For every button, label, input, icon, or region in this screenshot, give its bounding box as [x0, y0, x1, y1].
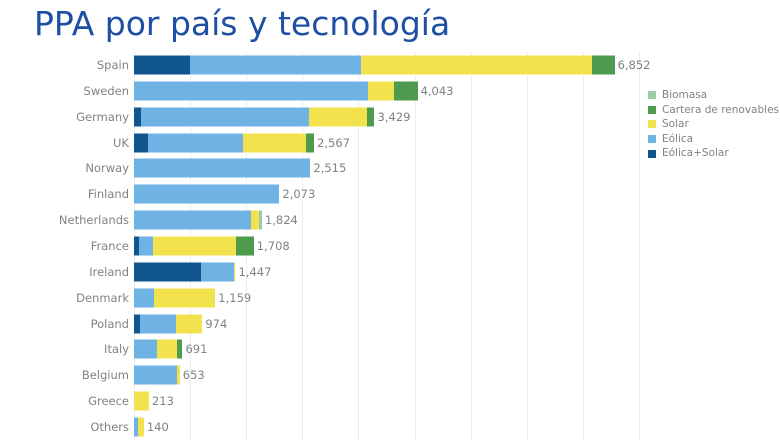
bar-segment[interactable] — [148, 133, 243, 152]
bar-row[interactable]: Denmark1,159 — [0, 285, 780, 311]
category-label: France — [91, 239, 129, 253]
legend-label: Solar — [662, 119, 689, 130]
legend-label: Biomasa — [662, 90, 707, 101]
bar-value-label: 1,824 — [262, 213, 298, 227]
legend-swatch-icon — [648, 150, 656, 158]
category-label: Poland — [91, 317, 129, 331]
bar-row[interactable]: Greece213 — [0, 388, 780, 414]
category-label: Italy — [104, 342, 129, 356]
stacked-bar[interactable] — [134, 340, 182, 359]
legend-label: Eólica — [662, 134, 693, 145]
bar-row[interactable]: Belgium653 — [0, 362, 780, 388]
bar-value-label: 653 — [180, 368, 205, 382]
stacked-bar[interactable] — [134, 288, 215, 307]
bar-segment[interactable] — [176, 314, 202, 333]
stacked-bar[interactable] — [134, 159, 310, 178]
bar-value-label: 691 — [182, 342, 207, 356]
stacked-bar[interactable] — [134, 133, 314, 152]
legend-item[interactable]: Eólica+Solar — [648, 146, 780, 161]
stacked-bar[interactable] — [134, 236, 254, 255]
page-title: PPA por país y tecnología — [34, 4, 450, 43]
bar-row[interactable]: Netherlands1,824 — [0, 207, 780, 233]
bar-segment[interactable] — [236, 236, 254, 255]
bar-row[interactable]: Finland2,073 — [0, 181, 780, 207]
bar-value-label: 1,447 — [235, 265, 271, 279]
bar-segment[interactable] — [394, 81, 417, 100]
stacked-bar[interactable] — [134, 211, 262, 230]
bar-segment[interactable] — [157, 340, 177, 359]
bar-value-label: 140 — [144, 420, 169, 434]
bar-segment[interactable] — [361, 55, 592, 74]
chart-legend: BiomasaCartera de renovablesSolarEólicaE… — [648, 88, 780, 161]
bar-value-label: 213 — [149, 394, 174, 408]
legend-swatch-icon — [648, 106, 656, 114]
bar-segment[interactable] — [134, 288, 154, 307]
category-label: Norway — [85, 161, 129, 175]
legend-item[interactable]: Solar — [648, 117, 780, 132]
bar-segment[interactable] — [134, 366, 177, 385]
bar-segment[interactable] — [592, 55, 614, 74]
legend-item[interactable]: Eólica — [648, 132, 780, 147]
bar-segment[interactable] — [134, 133, 148, 152]
stacked-bar[interactable] — [134, 107, 374, 126]
legend-label: Cartera de renovables — [662, 105, 779, 116]
legend-label: Eólica+Solar — [662, 148, 729, 159]
bar-row[interactable]: Spain6,852 — [0, 52, 780, 78]
legend-swatch-icon — [648, 120, 656, 128]
bar-segment[interactable] — [251, 211, 259, 230]
bar-segment[interactable] — [368, 81, 395, 100]
bar-segment[interactable] — [134, 262, 201, 281]
bar-segment[interactable] — [190, 55, 361, 74]
category-label: Spain — [97, 58, 129, 72]
bar-segment[interactable] — [367, 107, 374, 126]
bar-row[interactable]: Italy691 — [0, 337, 780, 363]
bar-segment[interactable] — [141, 107, 309, 126]
bar-value-label: 4,043 — [418, 84, 454, 98]
bar-segment[interactable] — [134, 392, 149, 411]
bar-value-label: 3,429 — [375, 110, 411, 124]
bar-value-label: 2,515 — [310, 161, 346, 175]
bar-value-label: 974 — [202, 317, 227, 331]
category-label: Finland — [88, 187, 129, 201]
bar-segment[interactable] — [201, 262, 233, 281]
stacked-bar[interactable] — [134, 185, 279, 204]
stacked-bar[interactable] — [134, 262, 235, 281]
bar-segment[interactable] — [134, 159, 310, 178]
bar-row[interactable]: Poland974 — [0, 311, 780, 337]
legend-item[interactable]: Cartera de renovables — [648, 103, 780, 118]
legend-item[interactable]: Biomasa — [648, 88, 780, 103]
bar-value-label: 1,708 — [254, 239, 290, 253]
category-label: UK — [113, 136, 129, 150]
category-label: Netherlands — [59, 213, 129, 227]
bar-segment[interactable] — [154, 288, 216, 307]
category-label: Sweden — [84, 84, 129, 98]
stacked-bar[interactable] — [134, 55, 615, 74]
category-label: Denmark — [76, 291, 129, 305]
bar-segment[interactable] — [134, 211, 251, 230]
bar-segment[interactable] — [153, 236, 236, 255]
category-label: Ireland — [89, 265, 129, 279]
bar-segment[interactable] — [134, 55, 190, 74]
legend-swatch-icon — [648, 91, 656, 99]
stacked-bar[interactable] — [134, 418, 144, 437]
stacked-bar[interactable] — [134, 314, 202, 333]
stacked-bar[interactable] — [134, 366, 180, 385]
bar-value-label: 1,159 — [215, 291, 251, 305]
category-label: Germany — [76, 110, 129, 124]
bar-segment[interactable] — [140, 314, 176, 333]
bar-segment[interactable] — [306, 133, 314, 152]
legend-swatch-icon — [648, 135, 656, 143]
bar-row[interactable]: France1,708 — [0, 233, 780, 259]
bar-segment[interactable] — [309, 107, 367, 126]
category-label: Greece — [88, 394, 129, 408]
bar-value-label: 2,073 — [279, 187, 315, 201]
stacked-bar[interactable] — [134, 81, 418, 100]
bar-row[interactable]: Ireland1,447 — [0, 259, 780, 285]
bar-value-label: 2,567 — [314, 136, 350, 150]
bar-segment[interactable] — [134, 81, 368, 100]
bar-segment[interactable] — [134, 340, 157, 359]
bar-segment[interactable] — [243, 133, 306, 152]
category-label: Others — [90, 420, 129, 434]
bar-row[interactable]: Others140 — [0, 414, 780, 440]
category-label: Belgium — [82, 368, 129, 382]
bar-segment[interactable] — [134, 107, 141, 126]
bar-value-label: 6,852 — [615, 58, 651, 72]
bar-segment[interactable] — [134, 185, 279, 204]
bar-segment[interactable] — [139, 236, 153, 255]
stacked-bar[interactable] — [134, 392, 149, 411]
